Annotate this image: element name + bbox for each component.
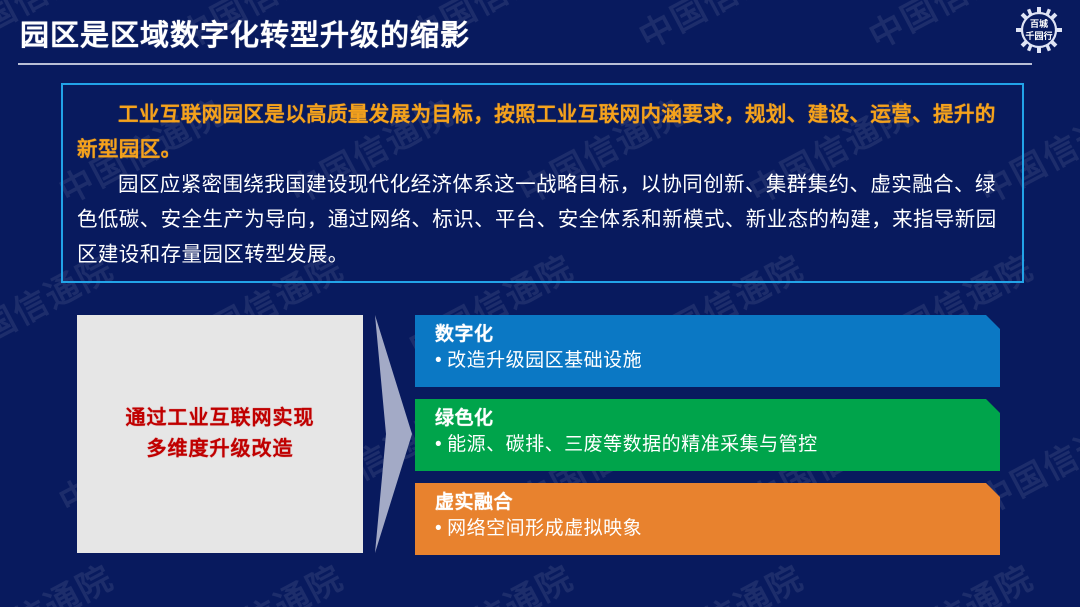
bar-title: 绿色化: [435, 406, 1000, 431]
logo-text-line1: 百城: [1012, 19, 1066, 29]
bullet-icon: •: [435, 434, 442, 455]
right-chevron-arrow-icon: [372, 315, 412, 553]
definition-highlight-paragraph: 工业互联网园区是以高质量发展为目标，按照工业互联网内涵要求，规划、建设、运营、提…: [77, 97, 1006, 167]
slide-header: 园区是区域数字化转型升级的缩影: [0, 0, 1080, 66]
title-divider: [18, 63, 1032, 65]
gear-logo: 百城 千园行: [1012, 4, 1066, 56]
gear-icon: [1012, 4, 1066, 56]
dimension-bar-greening: 绿色化 •能源、碳排、三废等数据的精准采集与管控: [415, 399, 1000, 471]
bar-bullet-text: 能源、碳排、三废等数据的精准采集与管控: [447, 434, 818, 455]
watermark-text: 中国信通院: [0, 86, 1, 214]
page-title: 园区是区域数字化转型升级的缩影: [20, 12, 470, 54]
logo-text-line2: 千园行: [1012, 31, 1066, 41]
dimension-bar-virtual-physical-fusion: 虚实融合 •网络空间形成虚拟映象: [415, 483, 1000, 555]
concept-card: 通过工业互联网实现 多维度升级改造: [77, 315, 363, 553]
bullet-icon: •: [435, 350, 442, 371]
definition-body-paragraph: 园区应紧密围绕我国建设现代化经济体系这一战略目标，以协同创新、集群集约、虚实融合…: [77, 167, 1006, 272]
slide-canvas: 中国信通院中国信通院中国信通院中国信通院中国信通院中国信通院中国信通院中国信通院…: [0, 0, 1080, 607]
bar-title: 虚实融合: [435, 490, 1000, 515]
dimension-bar-digitalization: 数字化 •改造升级园区基础设施: [415, 315, 1000, 387]
concept-card-line1: 通过工业互联网实现: [126, 403, 315, 434]
bar-bullet-text: 改造升级园区基础设施: [447, 350, 642, 371]
definition-textbox: 工业互联网园区是以高质量发展为目标，按照工业互联网内涵要求，规划、建设、运营、提…: [61, 83, 1024, 283]
bullet-icon: •: [435, 518, 442, 539]
bar-bullet-row: •能源、碳排、三废等数据的精准采集与管控: [435, 431, 1000, 459]
bar-bullet-row: •网络空间形成虚拟映象: [435, 515, 1000, 543]
bar-bullet-text: 网络空间形成虚拟映象: [447, 518, 642, 539]
dimension-bars: 数字化 •改造升级园区基础设施 绿色化 •能源、碳排、三废等数据的精准采集与管控…: [415, 315, 1000, 555]
concept-card-line2: 多维度升级改造: [147, 434, 294, 465]
bar-title: 数字化: [435, 322, 1000, 347]
upgrade-diagram: 通过工业互联网实现 多维度升级改造 数字化 •改造升级园区基础设施 绿色化 •能…: [0, 300, 1080, 590]
bar-bullet-row: •改造升级园区基础设施: [435, 347, 1000, 375]
